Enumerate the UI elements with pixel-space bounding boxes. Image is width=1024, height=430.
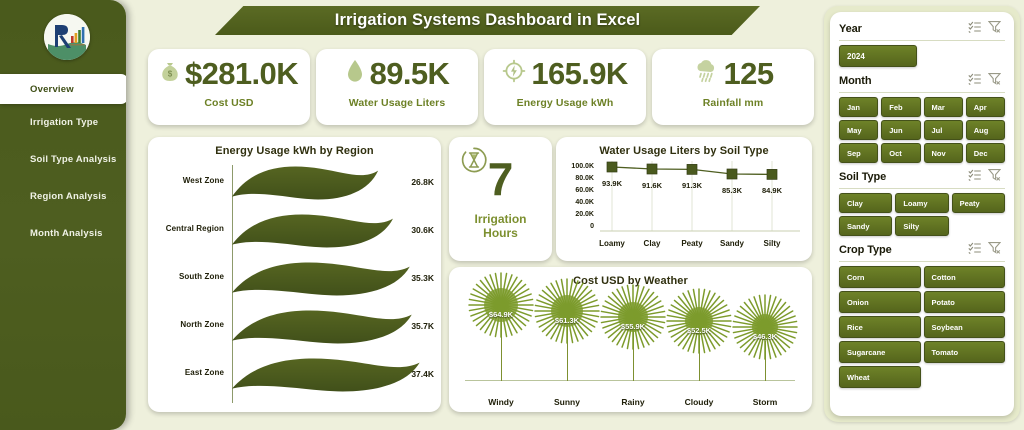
slicer-title: Soil Type bbox=[839, 171, 968, 183]
slicer-item-month[interactable]: May bbox=[839, 120, 878, 140]
slicer-item-soil[interactable]: Silty bbox=[895, 216, 948, 236]
kpi-value: $281.0K bbox=[185, 58, 298, 89]
dashboard-canvas: Overview Irrigation Type Soil Type Analy… bbox=[0, 0, 1024, 430]
slicer-item-month[interactable]: Mar bbox=[924, 97, 963, 117]
slicer-item-label: Onion bbox=[847, 298, 869, 307]
chart-bar-row: South Zone 35.3K bbox=[148, 259, 441, 304]
data-label: 93.9K bbox=[592, 179, 632, 188]
y-tick-label: 40.0K bbox=[564, 199, 594, 206]
slicer-year: Year 2024 bbox=[839, 20, 1005, 67]
x-tick-label: Sunny bbox=[531, 397, 603, 407]
company-logo bbox=[44, 14, 90, 60]
data-label: 91.3K bbox=[672, 181, 712, 190]
x-tick-label: Rainy bbox=[597, 397, 669, 407]
slicer-item-label: Potato bbox=[932, 298, 955, 307]
data-label: 35.7K bbox=[392, 321, 434, 331]
y-tick-label: 60.0K bbox=[564, 187, 594, 194]
chart-cost-usd-by-weather: Cost USD by Weather bbox=[449, 267, 812, 412]
data-label: 35.3K bbox=[392, 273, 434, 283]
slicer-item-label: Peaty bbox=[960, 199, 980, 208]
slicer-item-month[interactable]: Sep bbox=[839, 143, 878, 163]
slicer-item-month[interactable]: Jan bbox=[839, 97, 878, 117]
y-tick-label: 20.0K bbox=[564, 211, 594, 218]
data-label: 37.4K bbox=[392, 369, 434, 379]
slicer-month: Month Jan Feb Mar Apr bbox=[839, 72, 1005, 163]
money-bag-icon: $ bbox=[160, 60, 180, 87]
clear-filter-icon[interactable] bbox=[988, 168, 1001, 186]
slicer-item-label: Nov bbox=[932, 149, 946, 158]
kpi-card-rainfall: 125 Rainfall mm bbox=[652, 49, 814, 125]
slicer-item-label: May bbox=[847, 126, 862, 135]
slicer-item-label: Jun bbox=[889, 126, 902, 135]
sidebar-item-month-analysis[interactable]: Month Analysis bbox=[0, 215, 126, 252]
filter-panel: Year 2024 bbox=[824, 6, 1020, 422]
slicer-item-month[interactable]: Oct bbox=[881, 143, 920, 163]
slicer-item-month[interactable]: Nov bbox=[924, 143, 963, 163]
chart-bar-row: West Zone 26.8K bbox=[148, 163, 441, 208]
chart-bar-row: North Zone 35.7K bbox=[148, 307, 441, 352]
sidebar-item-label: Month Analysis bbox=[30, 228, 103, 239]
sidebar-item-overview[interactable]: Overview bbox=[0, 74, 126, 104]
sidebar-item-soil-type-analysis[interactable]: Soil Type Analysis bbox=[0, 141, 126, 178]
data-label: $46.3K bbox=[729, 332, 801, 341]
slicer-item-soil[interactable]: Clay bbox=[839, 193, 892, 213]
category-label: South Zone bbox=[152, 272, 224, 281]
page-title: Irrigation Systems Dashboard in Excel bbox=[215, 6, 760, 35]
water-drop-icon bbox=[345, 58, 365, 89]
slicer-soil-type: Soil Type Clay Loamy Peaty Sa bbox=[839, 168, 1005, 236]
page-title-text: Irrigation Systems Dashboard in Excel bbox=[335, 11, 640, 30]
slicer-item-crop[interactable]: Tomato bbox=[924, 341, 1006, 363]
chart-axis-line bbox=[465, 380, 795, 381]
dandelion-icon bbox=[597, 281, 669, 353]
data-label: $64.9K bbox=[465, 310, 537, 319]
slicer-item-month[interactable]: Jul bbox=[924, 120, 963, 140]
slicer-item-crop[interactable]: Rice bbox=[839, 316, 921, 338]
slicer-item-label: Rice bbox=[847, 323, 863, 332]
slicer-item-label: Cotton bbox=[932, 273, 956, 282]
slicer-item-month[interactable]: Apr bbox=[966, 97, 1005, 117]
sidebar-item-label: Overview bbox=[30, 84, 74, 95]
slicer-item-month[interactable]: Dec bbox=[966, 143, 1005, 163]
chart-energy-usage-by-region: Energy Usage kWh by Region West Zone 26.… bbox=[148, 137, 441, 412]
dandelion-icon bbox=[465, 269, 537, 341]
x-tick-label: Cloudy bbox=[663, 397, 735, 407]
slicer-item-label: Sugarcane bbox=[847, 348, 885, 357]
slicer-item-soil[interactable]: Peaty bbox=[952, 193, 1005, 213]
dandelion-icon bbox=[729, 291, 801, 363]
y-tick-label: 80.0K bbox=[564, 175, 594, 182]
kpi-value: 89.5K bbox=[370, 58, 450, 89]
clear-filter-icon[interactable] bbox=[988, 241, 1001, 259]
sidebar-nav: Overview Irrigation Type Soil Type Analy… bbox=[0, 74, 126, 252]
dandelion-icon bbox=[531, 275, 603, 347]
energy-bolt-icon bbox=[502, 59, 526, 88]
category-label: North Zone bbox=[152, 320, 224, 329]
category-label: East Zone bbox=[152, 368, 224, 377]
slicer-item-month[interactable]: Aug bbox=[966, 120, 1005, 140]
sidebar: Overview Irrigation Type Soil Type Analy… bbox=[0, 0, 126, 430]
slicer-item-crop[interactable]: Potato bbox=[924, 291, 1006, 313]
data-label: 84.9K bbox=[752, 186, 792, 195]
slicer-item-label: Silty bbox=[903, 222, 919, 231]
kpi-card-cost-usd: $ $281.0K Cost USD bbox=[148, 49, 310, 125]
slicer-item-crop[interactable]: Corn bbox=[839, 266, 921, 288]
data-label: $61.3K bbox=[531, 316, 603, 325]
kpi-card-water-usage: 89.5K Water Usage Liters bbox=[316, 49, 478, 125]
leaf-bar bbox=[232, 261, 412, 302]
kpi-card-irrigation-hours: 7 Irrigation Hours bbox=[449, 137, 552, 261]
slicer-crop-type: Crop Type Corn Cotton Onion P bbox=[839, 241, 1005, 388]
slicer-item-crop[interactable]: Wheat bbox=[839, 366, 921, 388]
slicer-item-year[interactable]: 2024 bbox=[839, 45, 917, 67]
sidebar-item-region-analysis[interactable]: Region Analysis bbox=[0, 178, 126, 215]
slicer-item-soil[interactable]: Sandy bbox=[839, 216, 892, 236]
chart-bar-row: Central Region 30.6K bbox=[148, 211, 441, 256]
chart-water-usage-by-soil-type: Water Usage Liters by Soil Type 100.0K 8… bbox=[556, 137, 812, 261]
slicer-item-label: Tomato bbox=[932, 348, 959, 357]
data-label: $55.9K bbox=[597, 322, 669, 331]
slicer-item-label: Clay bbox=[847, 199, 863, 208]
multi-select-icon[interactable] bbox=[968, 20, 981, 38]
dandelion-icon bbox=[663, 285, 735, 357]
slicer-item-label: Aug bbox=[974, 126, 989, 135]
kpi-label: Water Usage Liters bbox=[349, 97, 446, 109]
slicer-item-label: Feb bbox=[889, 103, 902, 112]
hours-label: Irrigation Hours bbox=[449, 213, 552, 241]
sidebar-item-label: Region Analysis bbox=[30, 191, 107, 202]
slicer-item-crop[interactable]: Onion bbox=[839, 291, 921, 313]
kpi-value: 165.9K bbox=[531, 58, 627, 89]
data-label: 26.8K bbox=[392, 177, 434, 187]
chart-title: Water Usage Liters by Soil Type bbox=[556, 145, 812, 157]
leaf-bar bbox=[232, 213, 395, 254]
chart-bar-row: East Zone 37.4K bbox=[148, 355, 441, 400]
hours-label-line2: Hours bbox=[449, 227, 552, 241]
y-tick-label: 0 bbox=[564, 223, 594, 230]
hours-value: 7 bbox=[488, 153, 514, 205]
slicer-item-crop[interactable]: Soybean bbox=[924, 316, 1006, 338]
data-label: 85.3K bbox=[712, 186, 752, 195]
slicer-item-label: Sandy bbox=[847, 222, 870, 231]
slicer-item-label: Soybean bbox=[932, 323, 963, 332]
data-label: $52.5K bbox=[663, 326, 735, 335]
sidebar-item-irrigation-type[interactable]: Irrigation Type bbox=[0, 104, 126, 141]
slicer-item-month[interactable]: Jun bbox=[881, 120, 920, 140]
sidebar-item-label: Soil Type Analysis bbox=[30, 154, 117, 165]
leaf-bar bbox=[232, 165, 380, 206]
multi-select-icon[interactable] bbox=[968, 241, 981, 259]
kpi-label: Rainfall mm bbox=[703, 97, 764, 109]
slicer-item-label: Mar bbox=[932, 103, 945, 112]
slicer-item-label: Jul bbox=[932, 126, 943, 135]
slicer-item-label: Wheat bbox=[847, 373, 870, 382]
svg-text:$: $ bbox=[168, 69, 173, 78]
slicer-title: Crop Type bbox=[839, 244, 968, 256]
rain-cloud-icon bbox=[693, 58, 719, 89]
kpi-label: Energy Usage kWh bbox=[517, 97, 614, 109]
slicer-item-label: Jan bbox=[847, 103, 860, 112]
slicer-item-soil[interactable]: Loamy bbox=[895, 193, 948, 213]
x-tick-label: Loamy bbox=[590, 239, 634, 248]
slicer-item-label: Loamy bbox=[903, 199, 927, 208]
multi-select-icon[interactable] bbox=[968, 72, 981, 90]
x-tick-label: Peaty bbox=[670, 239, 714, 248]
slicer-item-label: 2024 bbox=[847, 52, 865, 61]
clear-filter-icon[interactable] bbox=[988, 20, 1001, 38]
slicer-item-crop[interactable]: Cotton bbox=[924, 266, 1006, 288]
multi-select-icon[interactable] bbox=[968, 168, 981, 186]
slicer-title: Month bbox=[839, 75, 968, 87]
data-label: 30.6K bbox=[392, 225, 434, 235]
category-label: Central Region bbox=[152, 224, 224, 233]
clear-filter-icon[interactable] bbox=[988, 72, 1001, 90]
chart-title: Energy Usage kWh by Region bbox=[148, 145, 441, 157]
line-series bbox=[600, 161, 804, 235]
x-tick-label: Windy bbox=[465, 397, 537, 407]
x-tick-label: Silty bbox=[750, 239, 794, 248]
slicer-item-label: Corn bbox=[847, 273, 865, 282]
hours-label-line1: Irrigation bbox=[449, 213, 552, 227]
category-label: West Zone bbox=[152, 176, 224, 185]
slicer-item-crop[interactable]: Sugarcane bbox=[839, 341, 921, 363]
sidebar-item-label: Irrigation Type bbox=[30, 117, 98, 128]
slicer-title: Year bbox=[839, 23, 968, 35]
kpi-label: Cost USD bbox=[204, 97, 253, 109]
leaf-bar bbox=[232, 309, 414, 350]
slicer-item-label: Apr bbox=[974, 103, 987, 112]
kpi-card-energy-usage: 165.9K Energy Usage kWh bbox=[484, 49, 646, 125]
x-tick-label: Storm bbox=[729, 397, 801, 407]
data-label: 91.6K bbox=[632, 181, 672, 190]
slicer-item-month[interactable]: Feb bbox=[881, 97, 920, 117]
x-tick-label: Sandy bbox=[710, 239, 754, 248]
slicer-item-label: Dec bbox=[974, 149, 988, 158]
slicer-item-label: Oct bbox=[889, 149, 902, 158]
y-tick-label: 100.0K bbox=[564, 163, 594, 170]
kpi-value: 125 bbox=[724, 58, 774, 89]
x-tick-label: Clay bbox=[630, 239, 674, 248]
slicer-item-label: Sep bbox=[847, 149, 861, 158]
